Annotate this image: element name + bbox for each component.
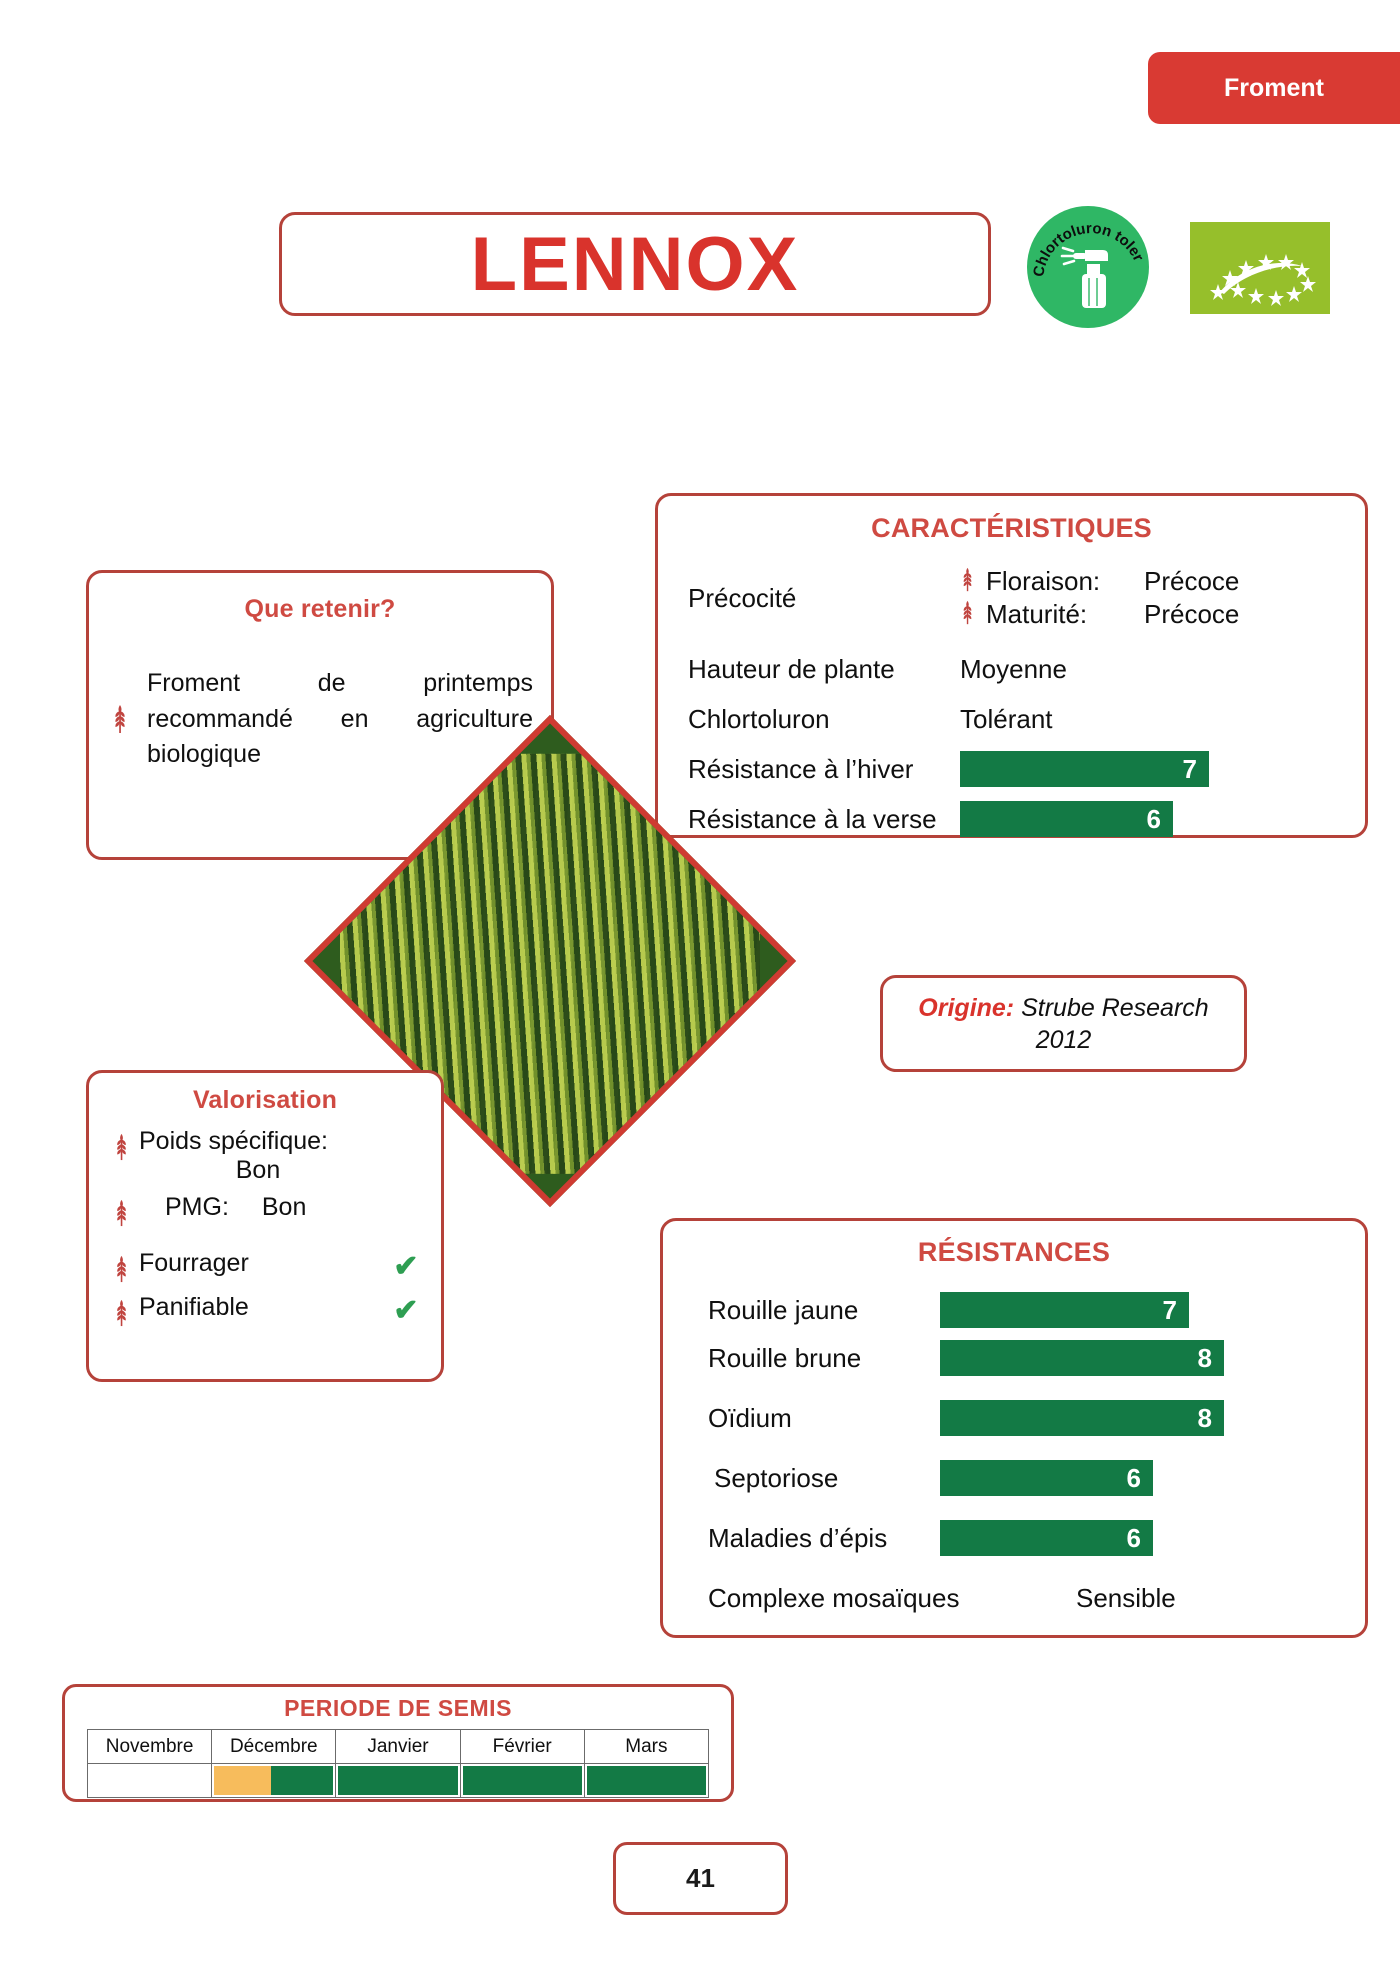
- page-title: LENNOX: [471, 221, 800, 308]
- month-header-decembre: Décembre: [212, 1730, 336, 1764]
- resistance-row-septoriose: Septoriose 6: [708, 1454, 1365, 1502]
- panifiable-label: Panifiable: [139, 1293, 383, 1322]
- table-fill-row: [88, 1764, 709, 1798]
- bar-value: 7: [1163, 1295, 1177, 1326]
- poids-specifique-label: Poids spécifique:: [139, 1127, 429, 1156]
- poids-specifique-value: Bon: [139, 1156, 429, 1185]
- bar-value: 6: [1147, 804, 1161, 835]
- hauteur-value: Moyenne: [960, 654, 1067, 685]
- month-header-mars: Mars: [584, 1730, 708, 1764]
- complexe-mosaiques-label: Complexe mosaïques: [708, 1583, 998, 1614]
- fourrager-label: Fourrager: [139, 1249, 383, 1278]
- wheat-ear-icon: [111, 704, 129, 734]
- valorisation-title: Valorisation: [89, 1086, 441, 1115]
- floraison-label: Floraison:: [986, 566, 1136, 597]
- table-header-row: Novembre Décembre Janvier Février Mars: [88, 1730, 709, 1764]
- svg-text:Chlortoluron tolerant: Chlortoluron tolerant: [1027, 206, 1147, 278]
- wheat-ear-icon: [960, 567, 978, 597]
- rouille-jaune-bar: 7: [940, 1292, 1189, 1328]
- valorisation-item-poids: Poids spécifique: Bon: [89, 1127, 441, 1185]
- page-number: 41: [613, 1842, 788, 1915]
- resistances-panel: RÉSISTANCES Rouille jaune 7 Rouille brun…: [660, 1218, 1368, 1638]
- periode-de-semis-panel: PERIODE DE SEMIS Novembre Décembre Janvi…: [62, 1684, 734, 1802]
- pmg-label: PMG:: [165, 1193, 229, 1221]
- wheat-ear-icon: [113, 1255, 131, 1285]
- resistance-hiver-label: Résistance à l’hiver: [688, 754, 960, 785]
- origine-label: Origine:: [918, 994, 1014, 1022]
- resistance-hiver-bar: 7: [960, 751, 1209, 787]
- floraison-value: Précoce: [1144, 566, 1239, 597]
- maladies-epis-label: Maladies d’épis: [708, 1523, 940, 1554]
- resistances-title: RÉSISTANCES: [663, 1237, 1365, 1268]
- valorisation-item-fourrager: Fourrager ✔: [89, 1249, 441, 1285]
- wheat-ear-icon: [113, 1133, 131, 1163]
- maladies-epis-bar: 6: [940, 1520, 1153, 1556]
- maturite-value: Précoce: [1144, 599, 1239, 630]
- row-resistance-verse: Résistance à la verse 6: [688, 794, 1365, 844]
- bar-value: 7: [1183, 754, 1197, 785]
- origine-panel: Origine: Strube Research 2012: [880, 975, 1247, 1072]
- month-header-fevrier: Février: [460, 1730, 584, 1764]
- chlortoluron-label: Chlortoluron: [688, 704, 960, 735]
- panifiable-check-icon: ✔: [383, 1293, 429, 1328]
- complexe-mosaiques-value: Sensible: [998, 1583, 1176, 1614]
- resistance-row-rouille-jaune: Rouille jaune 7: [708, 1286, 1365, 1334]
- caracteristiques-title: CARACTÉRISTIQUES: [658, 513, 1365, 544]
- wheat-ear-icon: [113, 1199, 131, 1229]
- wheat-ear-icon: [960, 600, 978, 630]
- fill-cell-fevrier: [460, 1764, 584, 1798]
- resistance-row-complexe-mosaiques: Complexe mosaïques Sensible: [708, 1574, 1365, 1622]
- septoriose-bar: 6: [940, 1460, 1153, 1496]
- fill-cell-janvier: [336, 1764, 460, 1798]
- precocite-label: Précocité: [688, 583, 960, 614]
- month-header-novembre: Novembre: [88, 1730, 212, 1764]
- fill-cell-decembre: [212, 1764, 336, 1798]
- wheat-ear-icon: [113, 1299, 131, 1329]
- hauteur-label: Hauteur de plante: [688, 654, 960, 685]
- pmg-value: Bon: [262, 1193, 306, 1221]
- oidium-label: Oïdium: [708, 1403, 940, 1434]
- precocite-maturite: Maturité: Précoce: [960, 599, 1239, 630]
- row-resistance-hiver: Résistance à l’hiver 7: [688, 744, 1365, 794]
- periode-de-semis-title: PERIODE DE SEMIS: [65, 1695, 731, 1722]
- chlortoluron-tolerant-icon: Chlortoluron tolerant: [1027, 206, 1149, 328]
- bar-value: 6: [1127, 1523, 1141, 1554]
- bar-value: 8: [1198, 1403, 1212, 1434]
- valorisation-item-pmg: PMG: Bon: [89, 1193, 441, 1229]
- variety-datasheet-page: Froment LENNOX Chlortoluron tolerant: [0, 0, 1400, 1980]
- row-hauteur: Hauteur de plante Moyenne: [688, 644, 1365, 694]
- sowing-period-table: Novembre Décembre Janvier Février Mars: [87, 1729, 709, 1798]
- resistance-row-rouille-brune: Rouille brune 8: [708, 1334, 1365, 1382]
- precocite-floraison: Floraison: Précoce: [960, 566, 1239, 597]
- bar-value: 6: [1127, 1463, 1141, 1494]
- chlortoluron-value: Tolérant: [960, 704, 1053, 735]
- origine-value: Strube Research 2012: [1021, 994, 1209, 1054]
- maturite-label: Maturité:: [986, 599, 1136, 630]
- resistance-row-oidium: Oïdium 8: [708, 1394, 1365, 1442]
- eu-organic-leaf-icon: [1190, 222, 1330, 314]
- rouille-brune-label: Rouille brune: [708, 1343, 940, 1374]
- variety-title-box: LENNOX: [279, 212, 991, 316]
- rouille-jaune-label: Rouille jaune: [708, 1295, 940, 1326]
- que-retenir-text: Froment de printemps recommandé en agric…: [147, 666, 533, 773]
- valorisation-panel: Valorisation: [86, 1070, 444, 1382]
- fill-cell-mars: [584, 1764, 708, 1798]
- que-retenir-title: Que retenir?: [89, 595, 551, 624]
- septoriose-label: Septoriose: [708, 1463, 940, 1494]
- oidium-bar: 8: [940, 1400, 1224, 1436]
- crop-type-badge: Froment: [1148, 52, 1400, 124]
- resistance-verse-bar: 6: [960, 801, 1173, 837]
- caracteristiques-panel: CARACTÉRISTIQUES Précocité: [655, 493, 1368, 838]
- row-precocite: Précocité: [688, 566, 1365, 630]
- row-chlortoluron: Chlortoluron Tolérant: [688, 694, 1365, 744]
- valorisation-item-panifiable: Panifiable ✔: [89, 1293, 441, 1329]
- fill-cell-novembre: [88, 1764, 212, 1798]
- bar-value: 8: [1198, 1343, 1212, 1374]
- resistance-verse-label: Résistance à la verse: [688, 804, 960, 835]
- fourrager-check-icon: ✔: [383, 1249, 429, 1284]
- rouille-brune-bar: 8: [940, 1340, 1224, 1376]
- resistance-row-maladies-epis: Maladies d’épis 6: [708, 1514, 1365, 1562]
- month-header-janvier: Janvier: [336, 1730, 460, 1764]
